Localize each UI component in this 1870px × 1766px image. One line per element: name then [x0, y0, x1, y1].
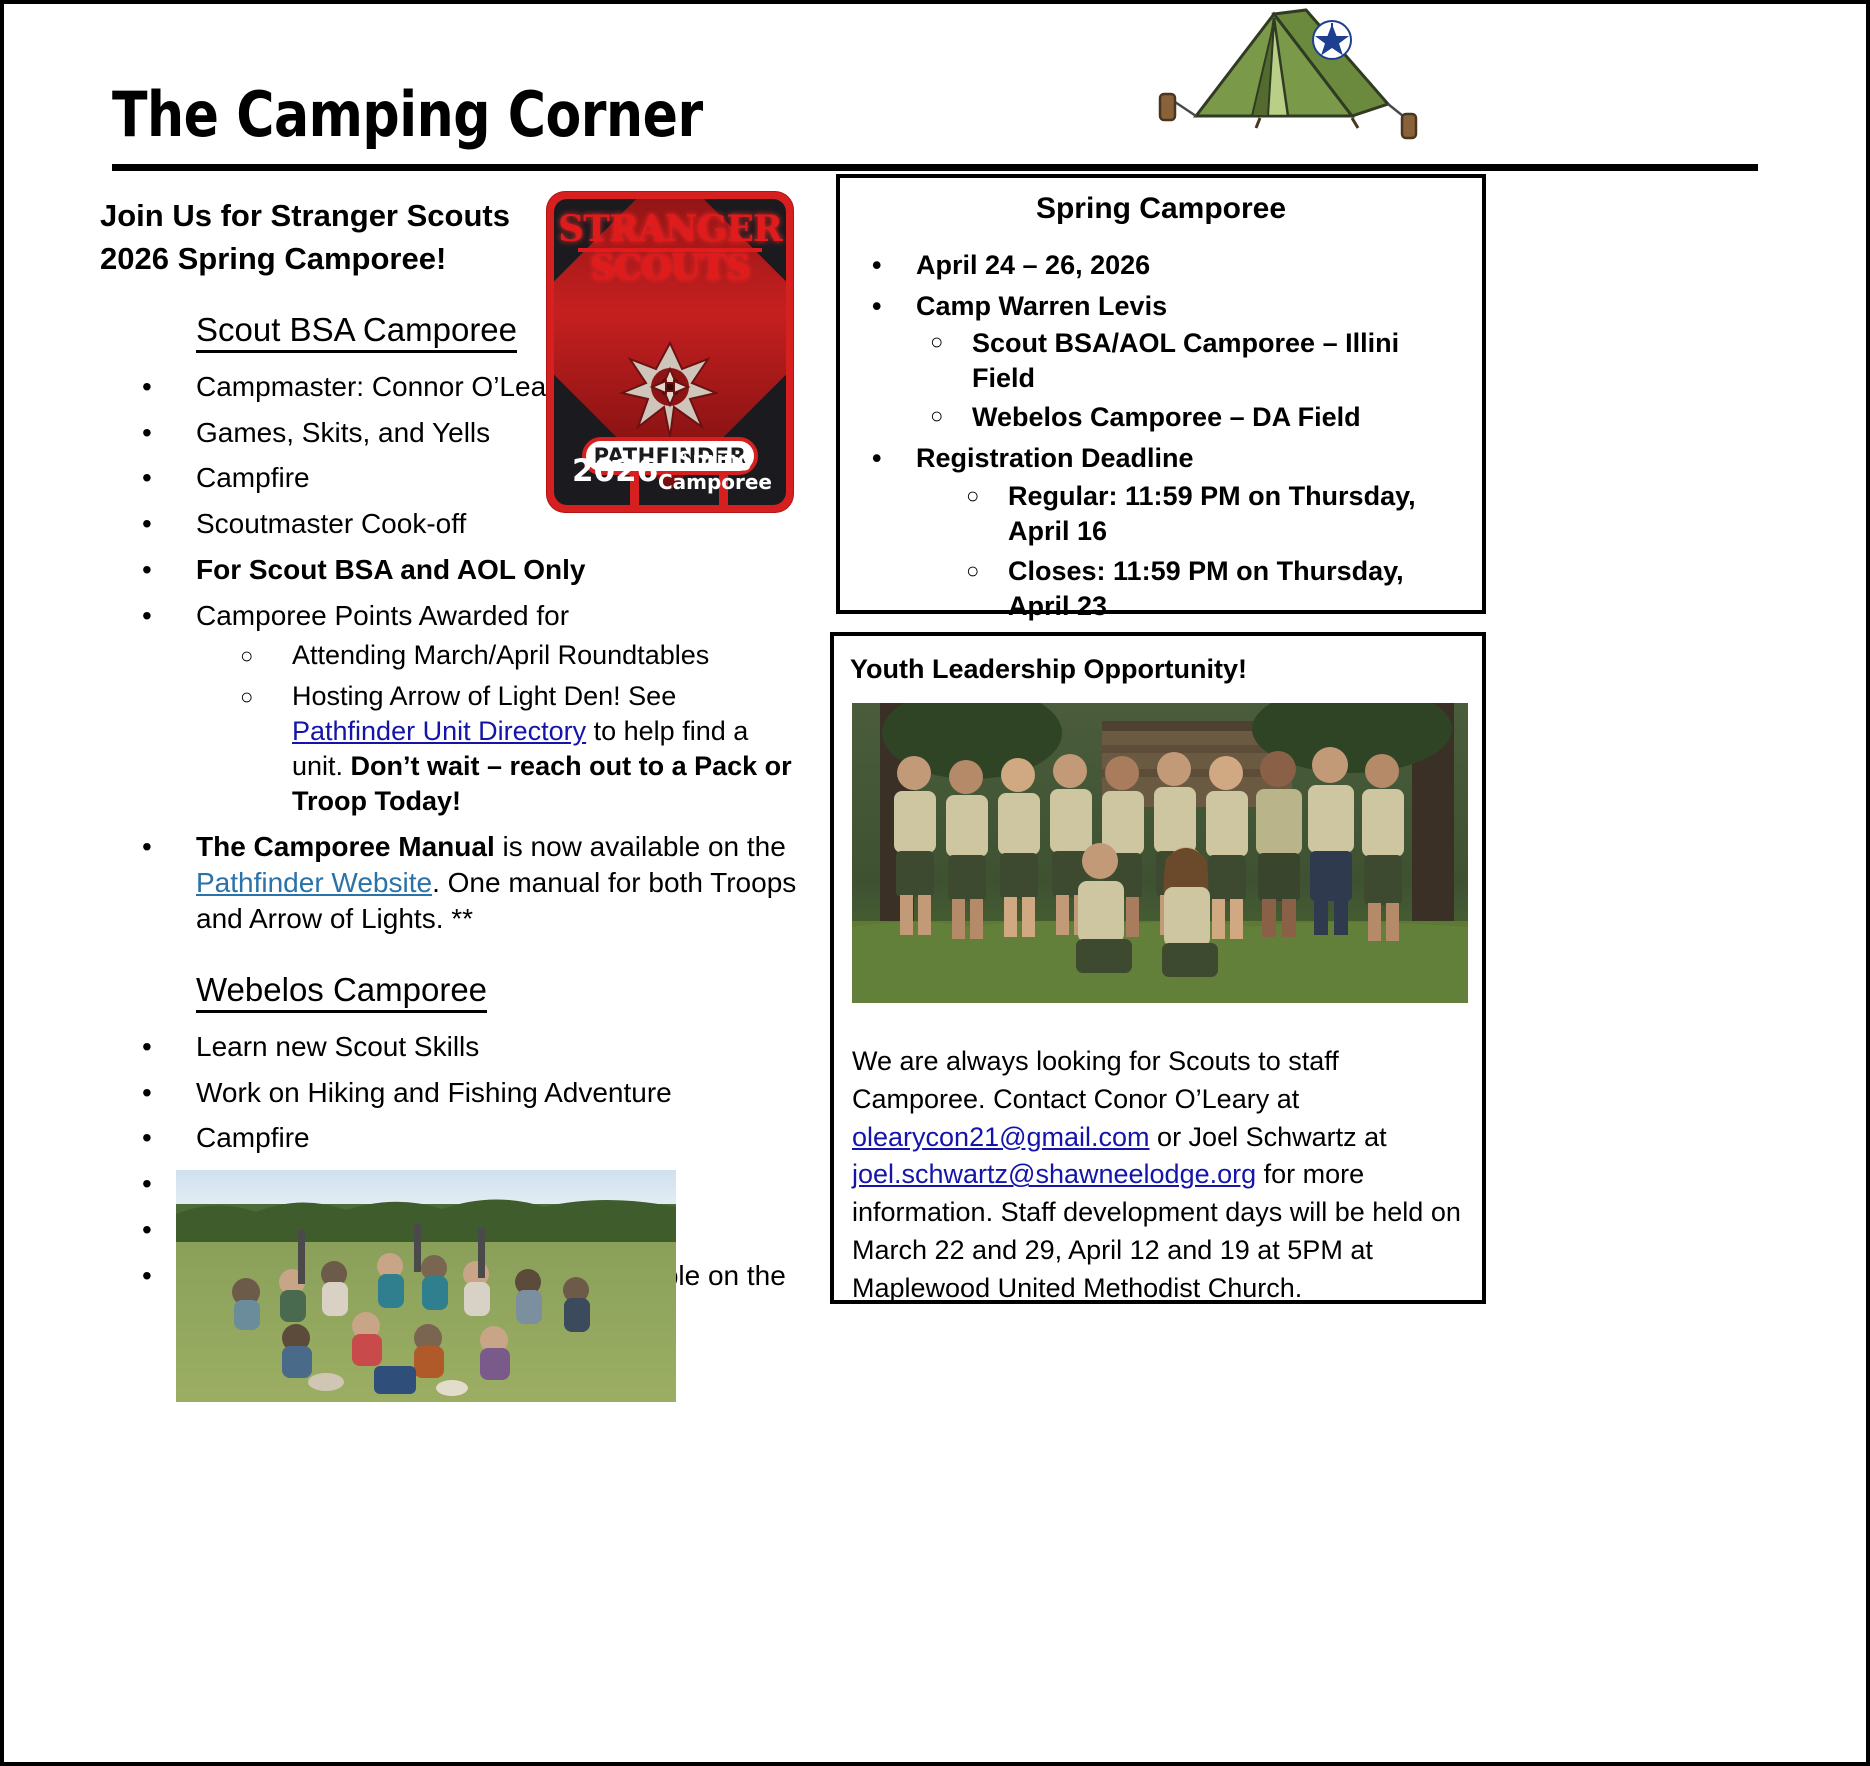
bullet-icon: • — [142, 1212, 152, 1248]
sub-list-item: ○ Hosting Arrow of Light Den! See Pathfi… — [196, 679, 800, 819]
bullet-hollow-icon: ○ — [930, 402, 943, 431]
bullet-icon: • — [142, 552, 152, 588]
bullet-icon: • — [872, 441, 881, 476]
bullet-hollow-icon: ○ — [930, 328, 943, 357]
pathfinder-website-link[interactable]: Pathfinder Website — [196, 867, 432, 898]
list-item-label: Scoutmaster Cook-off — [196, 508, 466, 539]
bullet-icon: • — [142, 829, 152, 865]
patch-inner: STRANGER SCOUTS — [554, 199, 786, 505]
intro-line-2: 2026 Spring Camporee! — [100, 241, 446, 276]
camporee-points-sublist: ○ Attending March/April Roundtables ○ Ho… — [196, 638, 800, 819]
sub-list-item: ○ Scout BSA/AOL Camporee – Illini Field — [916, 326, 1464, 396]
list-item-label: Campfire — [196, 1122, 310, 1153]
deadline-sublist: ○ Regular: 11:59 PM on Thursday, April 1… — [916, 479, 1464, 626]
sub-list-item-label: Scout BSA/AOL Camporee – Illini Field — [972, 328, 1399, 393]
page-header: The Camping Corner — [4, 4, 1866, 174]
bullet-icon: • — [142, 1258, 152, 1294]
sub-list-item: ○ Attending March/April Roundtables — [196, 638, 800, 673]
list-item: • For Scout BSA and AOL Only — [100, 552, 800, 588]
camp-field-sublist: ○ Scout BSA/AOL Camporee – Illini Field … — [916, 326, 1464, 435]
patch-subtitle-line-2: Camporee — [658, 470, 772, 494]
regular-deadline: Regular: 11:59 PM on Thursday, April 16 — [1008, 481, 1416, 547]
bullet-hollow-icon: ○ — [966, 556, 979, 585]
camporee-details-list: • April 24 – 26, 2026 • Camp Warren Levi… — [858, 248, 1464, 625]
patch-title: STRANGER SCOUTS — [554, 213, 786, 284]
pathfinder-unit-directory-link[interactable]: Pathfinder Unit Directory — [292, 716, 586, 746]
paragraph-part-1: We are always looking for Scouts to staf… — [852, 1046, 1339, 1114]
title-divider — [112, 164, 1758, 171]
list-item: • April 24 – 26, 2026 — [858, 248, 1464, 283]
bullet-icon: • — [872, 289, 881, 324]
youth-leadership-title: Youth Leadership Opportunity! — [850, 654, 1466, 685]
youth-leadership-paragraph: We are always looking for Scouts to staf… — [852, 1043, 1466, 1308]
list-item-label: Learn new Scout Skills — [196, 1031, 479, 1062]
youth-leadership-box: Youth Leadership Opportunity! — [830, 632, 1486, 1304]
list-item-label: Campfire — [196, 462, 310, 493]
sub-item-emphasis: Don’t wait – reach out to a Pack or Troo… — [292, 751, 792, 816]
list-item-label: Games, Skits, and Yells — [196, 417, 490, 448]
bullet-icon: • — [872, 248, 881, 283]
list-item-manual: • The Camporee Manual is now available o… — [100, 829, 800, 936]
bullet-hollow-icon: ○ — [240, 681, 253, 713]
bullet-hollow-icon: ○ — [966, 481, 979, 510]
list-item: • Campfire — [100, 1120, 800, 1156]
page-title: The Camping Corner — [112, 79, 703, 152]
spring-camporee-box: Spring Camporee • April 24 – 26, 2026 • … — [836, 174, 1486, 614]
spring-camporee-title: Spring Camporee — [858, 192, 1464, 226]
sub-list-item: ○ Webelos Camporee – DA Field — [916, 400, 1464, 435]
patch-title-line-1: STRANGER — [554, 213, 786, 246]
list-item-label: Camporee Points Awarded for — [196, 600, 569, 631]
sub-list-item: ○ Closes: 11:59 PM on Thursday, April 23 — [916, 554, 1464, 625]
bullet-icon: • — [142, 369, 152, 405]
bullet-icon: • — [142, 460, 152, 496]
sub-list-item-label: Attending March/April Roundtables — [292, 640, 709, 670]
sub-list-item: ○ Regular: 11:59 PM on Thursday, April 1… — [916, 479, 1464, 550]
list-item-label: Campmaster: Connor O’Leary — [196, 371, 569, 402]
list-item-label: Work on Hiking and Fishing Adventure — [196, 1077, 672, 1108]
scout-troop-group-photo — [852, 703, 1468, 1003]
list-item: • Camporee Points Awarded for ○ Attendin… — [100, 598, 800, 819]
list-item-registration: • Registration Deadline ○ Regular: 11:59… — [858, 441, 1464, 625]
scouts-in-field-photo — [176, 1170, 676, 1402]
sub-list-item-label: Webelos Camporee – DA Field — [972, 402, 1361, 432]
bullet-icon: • — [142, 1075, 152, 1111]
demogorgon-icon — [608, 329, 732, 447]
newsletter-page: The Camping Corner — [0, 0, 1870, 1766]
list-item-label: For Scout BSA and AOL Only — [196, 554, 585, 585]
bullet-hollow-icon: ○ — [240, 640, 253, 672]
registration-deadline-label: Registration Deadline — [916, 443, 1194, 473]
list-item: • Work on Hiking and Fishing Adventure — [100, 1075, 800, 1111]
patch-subtitle: Spring Camporee — [658, 448, 772, 493]
camporee-location: Camp Warren Levis — [916, 291, 1167, 321]
paragraph-part-2: or Joel Schwartz at — [1150, 1122, 1387, 1152]
bullet-icon: • — [142, 415, 152, 451]
bullet-icon: • — [142, 506, 152, 542]
camporee-dates: April 24 – 26, 2026 — [916, 250, 1150, 280]
closing-deadline: Closes: 11:59 PM on Thursday, April 23 — [1008, 556, 1404, 622]
bullet-icon: • — [142, 1166, 152, 1202]
manual-label: The Camporee Manual — [196, 831, 495, 862]
bullet-icon: • — [142, 1120, 152, 1156]
webelos-heading: Webelos Camporee — [196, 971, 487, 1013]
webelos-heading-wrap: Webelos Camporee — [100, 971, 800, 1019]
patch-title-line-2: SCOUTS — [554, 252, 786, 284]
patch-year-label: 2026 — [572, 453, 658, 489]
scout-bsa-heading: Scout BSA Camporee — [196, 311, 517, 353]
oleary-email-link[interactable]: olearycon21@gmail.com — [852, 1122, 1150, 1152]
list-item: • Learn new Scout Skills — [100, 1029, 800, 1065]
intro-line-1: Join Us for Stranger Scouts — [100, 198, 510, 233]
sub-item-prefix: Hosting Arrow of Light Den! See — [292, 681, 676, 711]
bullet-icon: • — [142, 1029, 152, 1065]
tent-icon — [1156, 0, 1426, 146]
stranger-scouts-patch-logo: STRANGER SCOUTS — [547, 192, 793, 512]
list-item: • Camp Warren Levis ○ Scout BSA/AOL Camp… — [858, 289, 1464, 435]
bullet-icon: • — [142, 598, 152, 634]
manual-middle: is now available on the — [495, 831, 786, 862]
schwartz-email-link[interactable]: joel.schwartz@shawneelodge.org — [852, 1159, 1256, 1189]
patch-subtitle-line-1: Spring — [678, 447, 752, 471]
